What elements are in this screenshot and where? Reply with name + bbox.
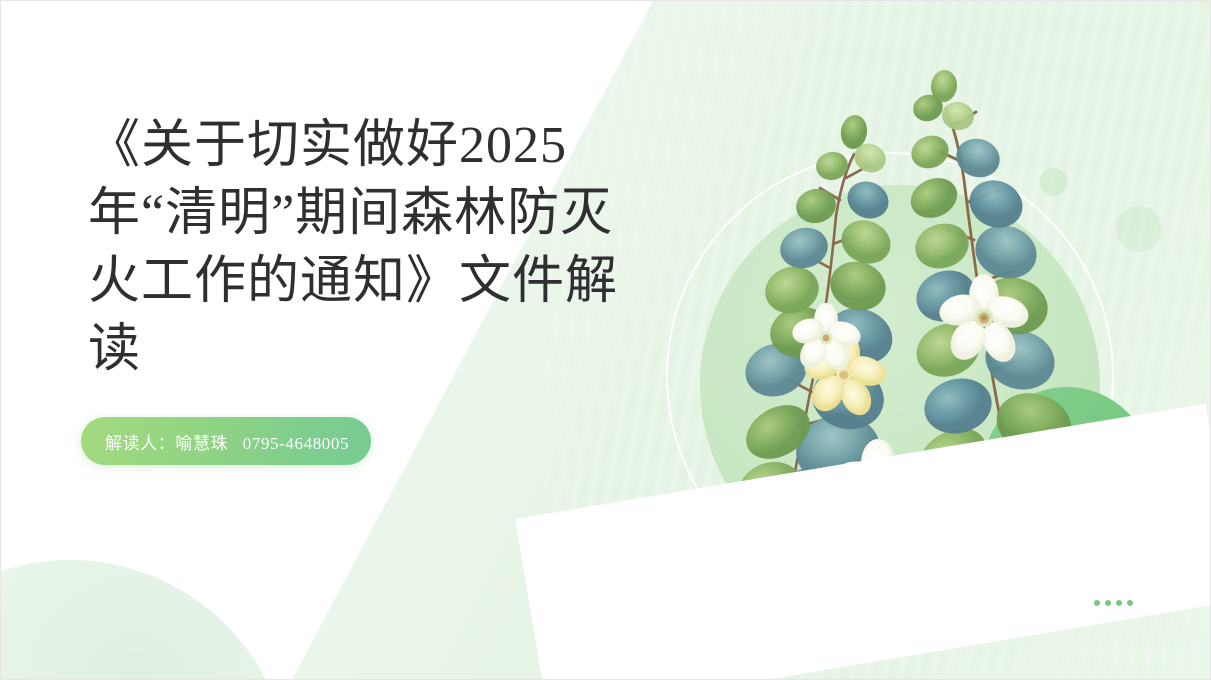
presenter-badge-label: 解读人：喻慧珠 0795-4648005 bbox=[105, 429, 349, 454]
accent-dot bbox=[1116, 600, 1122, 606]
presenter-badge: 解读人：喻慧珠 0795-4648005 bbox=[81, 417, 371, 465]
presentation-slide: 《关于切实做好2025年“清明”期间森林防灭火工作的通知》文件解读 解读人：喻慧… bbox=[0, 0, 1211, 680]
accent-dot bbox=[1094, 600, 1100, 606]
slide-title: 《关于切实做好2025年“清明”期间森林防灭火工作的通知》文件解读 bbox=[88, 112, 633, 384]
accent-dot bbox=[1127, 600, 1133, 606]
accent-dot bbox=[1105, 600, 1111, 606]
faint-dot-medium bbox=[1116, 206, 1162, 252]
accent-dots bbox=[1094, 600, 1133, 606]
